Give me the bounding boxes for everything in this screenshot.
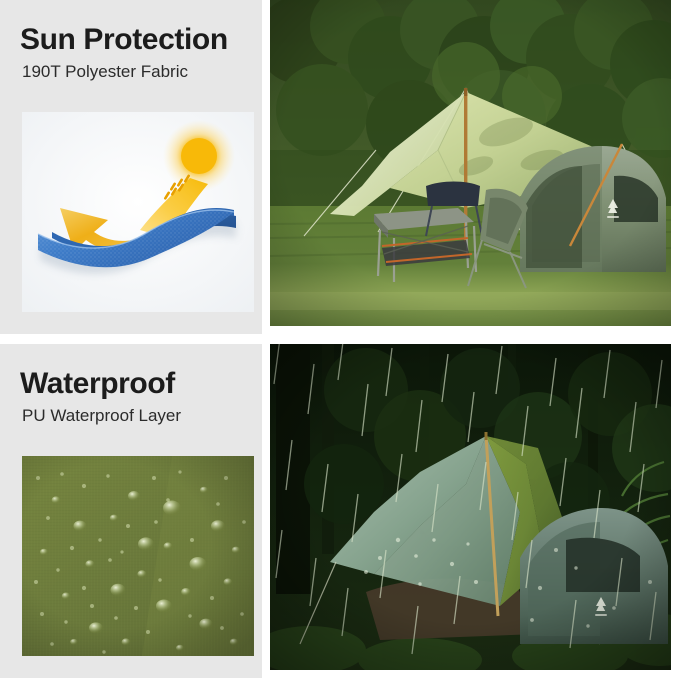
tent-sunny-campsite-photo	[270, 0, 671, 326]
tent-rainstorm-photo	[270, 344, 671, 670]
waterproof-text-block: Waterproof PU Waterproof Layer	[20, 368, 255, 426]
feature-row-sun-protection: Sun Protection 190T Polyester Fabric	[0, 0, 679, 334]
sun-protection-title: Sun Protection	[20, 24, 255, 56]
sun-protection-text-block: Sun Protection 190T Polyester Fabric	[20, 24, 255, 82]
water-bead-fabric-swatch	[22, 456, 254, 656]
uv-reflect-diagram	[22, 112, 254, 312]
infographic-sheet: Sun Protection 190T Polyester Fabric	[0, 0, 679, 678]
waterproof-subtitle: PU Waterproof Layer	[22, 406, 255, 426]
sun-protection-subtitle: 190T Polyester Fabric	[22, 62, 255, 82]
sun-protection-text-panel: Sun Protection 190T Polyester Fabric	[0, 0, 262, 334]
waterproof-text-panel: Waterproof PU Waterproof Layer	[0, 344, 262, 678]
feature-row-waterproof: Waterproof PU Waterproof Layer	[0, 344, 679, 678]
waterproof-title: Waterproof	[20, 368, 255, 400]
